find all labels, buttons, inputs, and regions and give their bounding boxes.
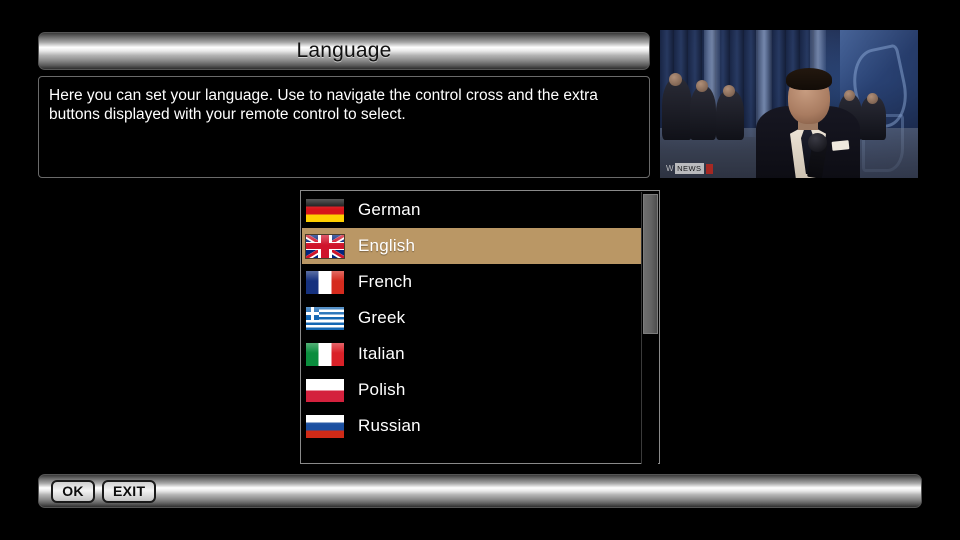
language-label: Greek [358, 308, 405, 328]
language-row[interactable]: German [302, 192, 642, 228]
flag-icon-fr [306, 271, 344, 294]
language-row[interactable]: Polish [302, 372, 642, 408]
language-row[interactable]: French [302, 264, 642, 300]
softkey-bar: OK EXIT [38, 474, 922, 508]
channel-logo-mark [706, 164, 713, 174]
language-label: French [358, 272, 412, 292]
help-text: Here you can set your language. Use to n… [49, 86, 639, 124]
flag-icon-de [306, 199, 344, 222]
flag-icon-pl [306, 379, 344, 402]
channel-logo-prefix: W [666, 164, 673, 173]
channel-logo-name: NEWS [675, 163, 704, 174]
flag-icon-ru [306, 415, 344, 438]
preview-crowd [867, 93, 878, 104]
flag-icon-uk [306, 235, 344, 258]
language-list-rows: GermanEnglishFrenchGreekItalianPolishRus… [302, 192, 642, 444]
language-row[interactable]: Greek [302, 300, 642, 336]
scrollbar-thumb[interactable] [643, 194, 658, 334]
channel-logo: W NEWS [666, 163, 713, 174]
preview-reporter-hair [786, 68, 832, 90]
ok-button[interactable]: OK [51, 480, 95, 503]
help-panel: Here you can set your language. Use to n… [38, 76, 650, 178]
flag-icon-gr [306, 307, 344, 330]
preview-crowd [723, 85, 735, 97]
language-label: English [358, 236, 415, 256]
flag-icon-it [306, 343, 344, 366]
preview-crowd [716, 90, 744, 140]
language-label: Polish [358, 380, 406, 400]
language-row[interactable]: Russian [302, 408, 642, 444]
preview-crowd [844, 90, 855, 101]
language-list[interactable]: GermanEnglishFrenchGreekItalianPolishRus… [300, 190, 660, 464]
preview-crowd [662, 78, 692, 140]
scrollbar-track[interactable] [641, 192, 658, 464]
video-preview[interactable]: W NEWS [660, 30, 918, 178]
tv-settings-screen: Language Here you can set your language.… [0, 0, 960, 540]
language-label: German [358, 200, 421, 220]
exit-button[interactable]: EXIT [102, 480, 156, 503]
language-label: Italian [358, 344, 405, 364]
preview-crowd [690, 86, 716, 140]
page-title-bar: Language [38, 32, 650, 70]
language-label: Russian [358, 416, 421, 436]
language-row[interactable]: English [302, 228, 642, 264]
page-title: Language [296, 39, 391, 63]
preview-reporter-pocket-square [832, 140, 850, 151]
language-row[interactable]: Italian [302, 336, 642, 372]
